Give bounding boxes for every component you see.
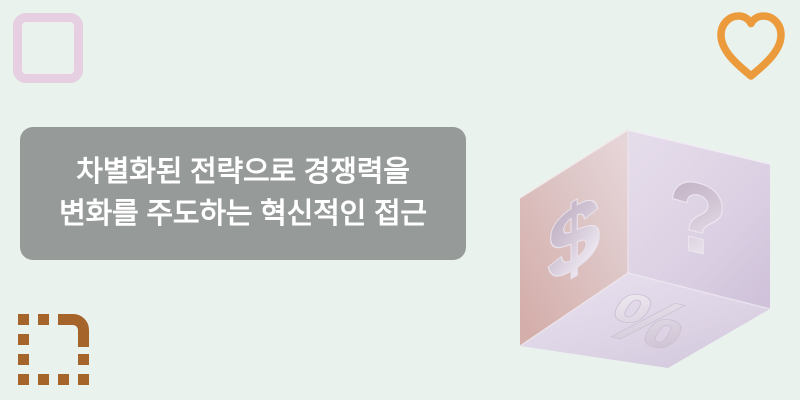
caption-line-2: 변화를 주도하는 혁신적인 접근 <box>59 194 427 235</box>
dashed-square-corner-icon <box>14 303 94 391</box>
caption-line-1: 차별화된 전략으로 경쟁력을 <box>76 152 409 193</box>
banner-canvas: 차별화된 전략으로 경쟁력을 변화를 주도하는 혁신적인 접근 <box>0 0 800 400</box>
3d-cube-icon: $ ? % <box>498 78 800 370</box>
rounded-square-outline-icon <box>13 13 83 83</box>
caption-box: 차별화된 전략으로 경쟁력을 변화를 주도하는 혁신적인 접근 <box>20 127 466 260</box>
svg-text:?: ? <box>669 156 728 280</box>
heart-outline-icon <box>712 6 790 84</box>
